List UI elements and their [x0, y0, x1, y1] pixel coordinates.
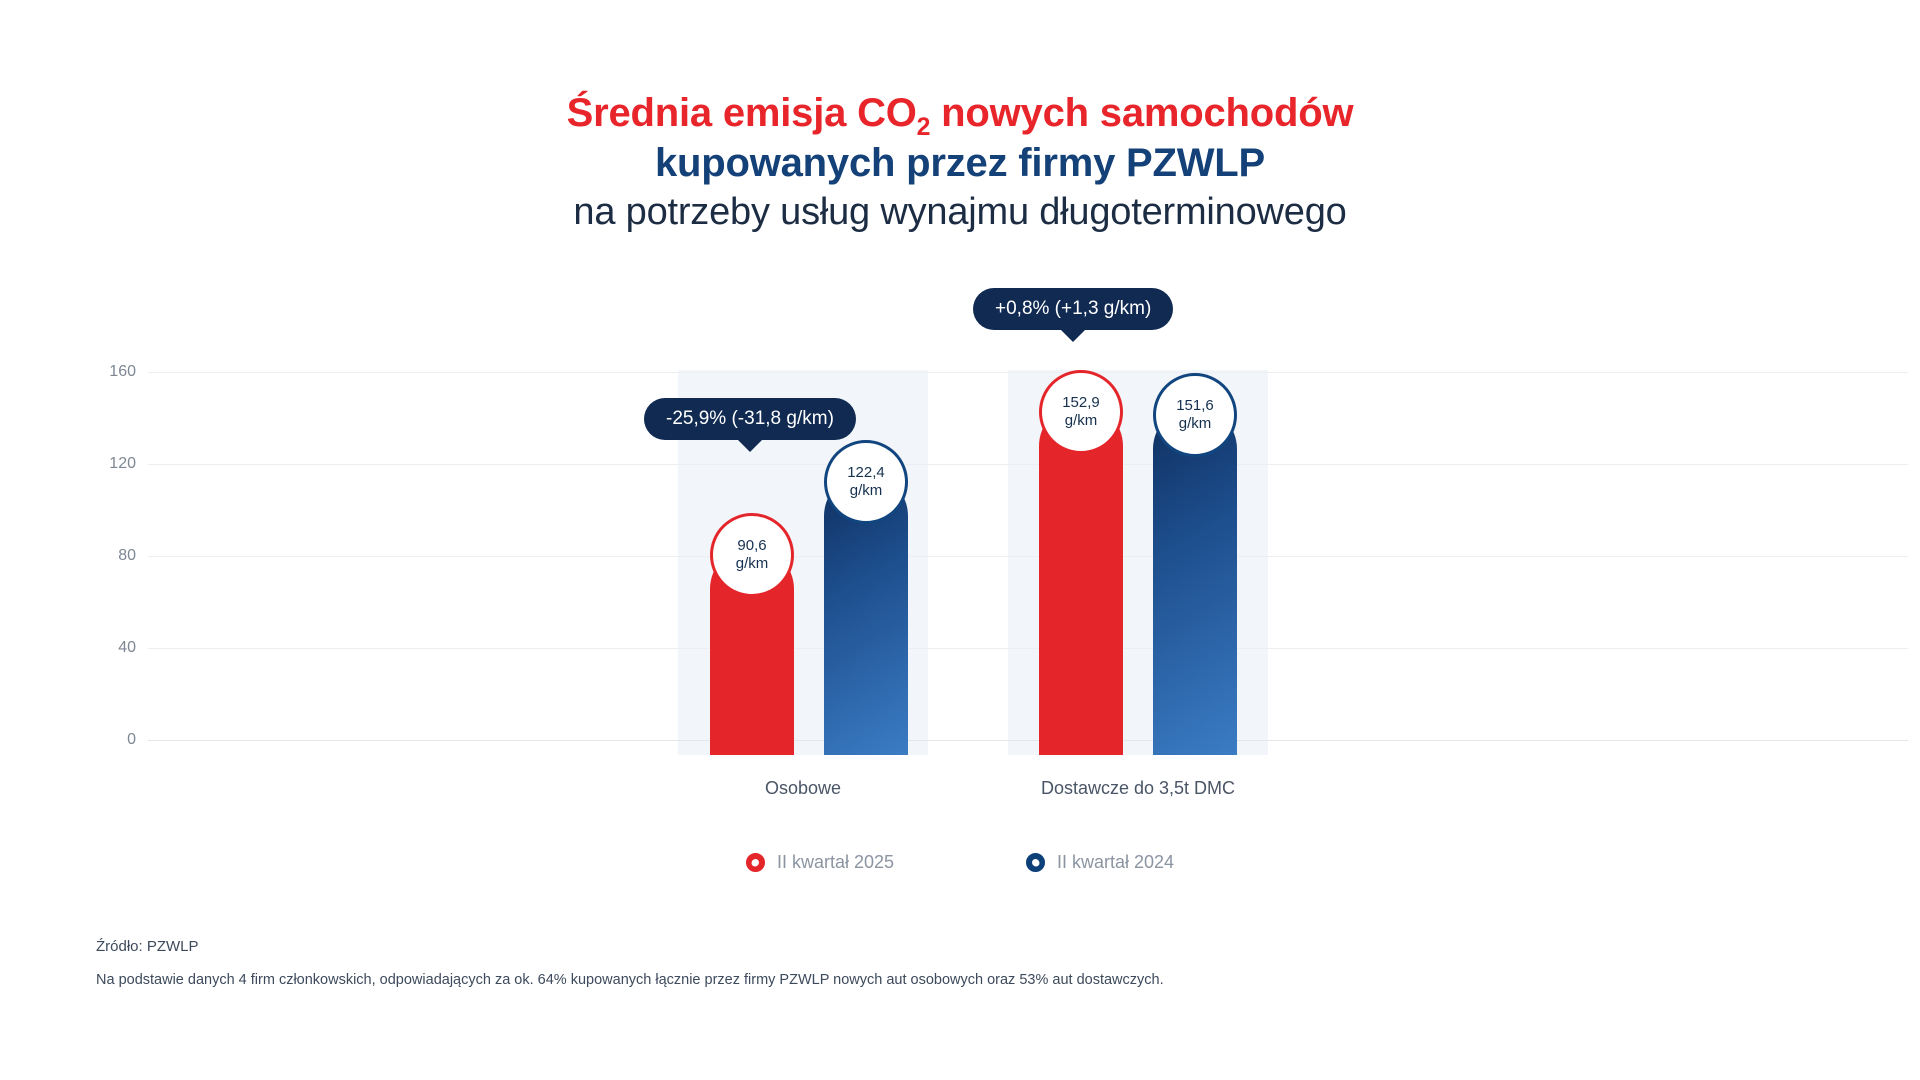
value-unit: g/km	[1065, 412, 1098, 430]
value-bubble-dostawcze-2024: 151,6 g/km	[1153, 373, 1237, 457]
ytick-label-40: 40	[56, 639, 136, 657]
methodology-note: Na podstawie danych 4 firm członkowskich…	[96, 972, 1164, 988]
legend-item-2024[interactable]: II kwartał 2024	[1026, 852, 1174, 873]
gridline-160	[148, 372, 1908, 373]
plot-area: 0 40 80 120 160 90,6 g/km 122,4 g/km 152…	[148, 370, 1908, 755]
source-text: Źródło: PZWLP	[96, 938, 1164, 955]
ytick-label-120: 120	[56, 455, 136, 473]
delta-callout-dostawcze: +0,8% (+1,3 g/km)	[973, 288, 1173, 330]
delta-callout-osobowe: -25,9% (-31,8 g/km)	[644, 398, 856, 440]
ytick-label-160: 160	[56, 363, 136, 381]
title-line-3: na potrzeby usług wynajmu długoterminowe…	[0, 189, 1920, 237]
y-axis: 0 40 80 120 160	[148, 370, 1908, 755]
title-line-1: Średnia emisja CO2 nowych samochodów	[0, 88, 1920, 138]
value-unit: g/km	[736, 555, 769, 573]
page-title: Średnia emisja CO2 nowych samochodów kup…	[0, 88, 1920, 237]
legend-label: II kwartał 2025	[777, 852, 894, 873]
legend-dot-icon	[1026, 853, 1045, 872]
delta-callout-text: +0,8% (+1,3 g/km)	[995, 298, 1151, 319]
value-number: 122,4	[847, 464, 885, 482]
value-unit: g/km	[850, 482, 883, 500]
legend-label: II kwartał 2024	[1057, 852, 1174, 873]
footer-block: Źródło: PZWLP Na podstawie danych 4 firm…	[96, 938, 1164, 988]
value-number: 151,6	[1176, 397, 1214, 415]
gridline-120	[148, 464, 1908, 465]
legend-item-2025[interactable]: II kwartał 2025	[746, 852, 894, 873]
chart-legend: II kwartał 2025 II kwartał 2024	[0, 852, 1920, 873]
category-label-dostawcze: Dostawcze do 3,5t DMC	[1013, 778, 1263, 799]
title-line-2: kupowanych przez firmy PZWLP	[0, 138, 1920, 188]
bar-dostawcze-2025[interactable]	[1039, 404, 1123, 755]
value-bubble-osobowe-2024: 122,4 g/km	[824, 440, 908, 524]
category-label-osobowe: Osobowe	[683, 778, 923, 799]
value-number: 90,6	[737, 537, 766, 555]
delta-callout-text: -25,9% (-31,8 g/km)	[666, 408, 834, 429]
value-bubble-dostawcze-2025: 152,9 g/km	[1039, 370, 1123, 454]
bar-dostawcze-2024[interactable]	[1153, 407, 1237, 755]
callout-tail	[737, 439, 763, 452]
callout-tail	[1060, 329, 1086, 342]
ytick-label-80: 80	[56, 547, 136, 565]
co2-subscript: 2	[917, 114, 931, 141]
gridline-0	[148, 740, 1908, 741]
value-number: 152,9	[1062, 394, 1100, 412]
ytick-label-0: 0	[56, 731, 136, 749]
legend-dot-icon	[746, 853, 765, 872]
chart-canvas: Średnia emisja CO2 nowych samochodów kup…	[0, 0, 1920, 1080]
value-unit: g/km	[1179, 415, 1212, 433]
gridline-40	[148, 648, 1908, 649]
value-bubble-osobowe-2025: 90,6 g/km	[710, 513, 794, 597]
gridline-80	[148, 556, 1908, 557]
